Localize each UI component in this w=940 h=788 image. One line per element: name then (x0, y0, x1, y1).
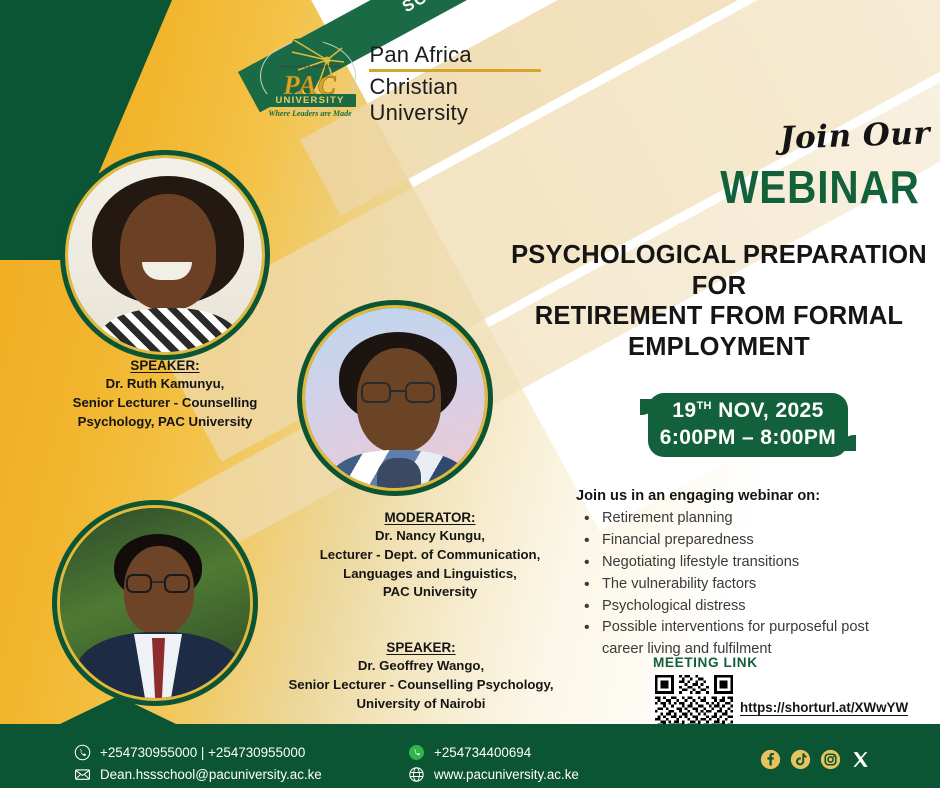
photo-frame (302, 305, 488, 491)
caption-role: SPEAKER: (258, 638, 584, 657)
facebook-icon[interactable] (760, 749, 781, 770)
title-line-4: EMPLOYMENT (498, 332, 940, 363)
social-links (760, 749, 871, 770)
event-month-year: NOV, 2025 (712, 399, 824, 422)
footer-website: www.pacuniversity.ac.ke (408, 766, 579, 783)
logo-divider (369, 69, 541, 72)
meeting-link-label: MEETING LINK (653, 655, 758, 670)
caption-line3: Psychology, PAC University (20, 413, 310, 432)
footer-email-value: Dean.hssschool@pacuniversity.ac.ke (100, 767, 322, 782)
logo-wordmark: Pan Africa Christian University (369, 38, 548, 125)
tiktok-icon[interactable] (790, 749, 811, 770)
photo-frame (57, 505, 253, 701)
list-item: Negotiating lifestyle transitions (576, 552, 916, 574)
whatsapp-icon (408, 744, 425, 761)
phone-icon (74, 744, 91, 761)
logo-banner: UNIVERSITY (264, 94, 356, 107)
list-item: Possible interventions for purposeful po… (576, 617, 916, 639)
speaker-photo-geoffrey-wango (52, 500, 258, 706)
title-line-1: PSYCHOLOGICAL PREPARATION (498, 240, 940, 271)
footer-phone-value: +254730955000 | +254730955000 (100, 745, 305, 760)
webinar-heading: WEBINAR (714, 160, 925, 214)
logo-name-line2: Christian University (369, 74, 548, 126)
agenda-list: Retirement planning Financial preparedne… (576, 508, 916, 661)
caption-moderator: MODERATOR: Dr. Nancy Kungu, Lecturer - D… (272, 508, 588, 602)
caption-line2: Lecturer - Dept. of Communication, (272, 546, 588, 565)
caption-speaker-1: SPEAKER: Dr. Ruth Kamunyu, Senior Lectur… (20, 356, 310, 431)
caption-role: SPEAKER: (20, 356, 310, 375)
caption-line4: PAC University (272, 583, 588, 602)
logo-mark: PAN AFRICA CHRISTIAN PAC UNIVERSITY Wher… (258, 36, 359, 128)
university-logo: PAN AFRICA CHRISTIAN PAC UNIVERSITY Wher… (258, 34, 548, 130)
event-day: 19 (672, 399, 696, 422)
event-time: 6:00PM – 8:00PM (660, 425, 836, 452)
title-line-3: RETIREMENT FROM FORMAL (498, 301, 940, 332)
caption-line3: Languages and Linguistics, (272, 565, 588, 584)
agenda-section: Join us in an engaging webinar on: Retir… (576, 488, 916, 661)
logo-micro-text: PAN AFRICA CHRISTIAN (264, 64, 356, 69)
speaker-photo-ruth-kamunyu (60, 150, 270, 360)
footer-whatsapp: +254734400694 (408, 744, 531, 761)
caption-name: Dr. Nancy Kungu, (272, 527, 588, 546)
caption-role: MODERATOR: (272, 508, 588, 527)
photo-frame (65, 155, 265, 355)
envelope-icon (74, 766, 91, 783)
caption-line2: Senior Lecturer - Counselling (20, 394, 310, 413)
title-line-2: FOR (498, 271, 940, 302)
join-our-script: Join Our (769, 115, 940, 157)
event-date: 19TH NOV, 2025 (672, 398, 823, 425)
x-icon[interactable] (850, 749, 871, 770)
footer-website-value: www.pacuniversity.ac.ke (434, 767, 579, 782)
list-item: Financial preparedness (576, 530, 916, 552)
event-day-ordinal: TH (696, 400, 711, 412)
footer: +254730955000 | +254730955000 Dean.hsssc… (0, 696, 940, 788)
globe-icon (408, 766, 425, 783)
caption-line2: Senior Lecturer - Counselling Psychology… (258, 676, 584, 695)
instagram-icon[interactable] (820, 749, 841, 770)
list-item: Psychological distress (576, 596, 916, 618)
webinar-poster: SCHOOL OF HUMANITIES & SOCIAL SCIENCES P… (0, 0, 940, 788)
logo-name-line1: Pan Africa (369, 42, 548, 68)
footer-email: Dean.hssschool@pacuniversity.ac.ke (74, 766, 322, 783)
caption-name: Dr. Geoffrey Wango, (258, 657, 584, 676)
moderator-photo-nancy-kungu (297, 300, 493, 496)
caption-name: Dr. Ruth Kamunyu, (20, 375, 310, 394)
logo-tagline: Where Leaders are Made (260, 109, 360, 118)
date-time-badge: 19TH NOV, 2025 6:00PM – 8:00PM (648, 393, 848, 457)
list-item: The vulnerability factors (576, 574, 916, 596)
footer-whatsapp-value: +254734400694 (434, 745, 531, 760)
agenda-heading: Join us in an engaging webinar on: (576, 488, 916, 504)
list-item: Retirement planning (576, 508, 916, 530)
footer-phone: +254730955000 | +254730955000 (74, 744, 305, 761)
page-title: PSYCHOLOGICAL PREPARATION FOR RETIREMENT… (498, 240, 940, 362)
